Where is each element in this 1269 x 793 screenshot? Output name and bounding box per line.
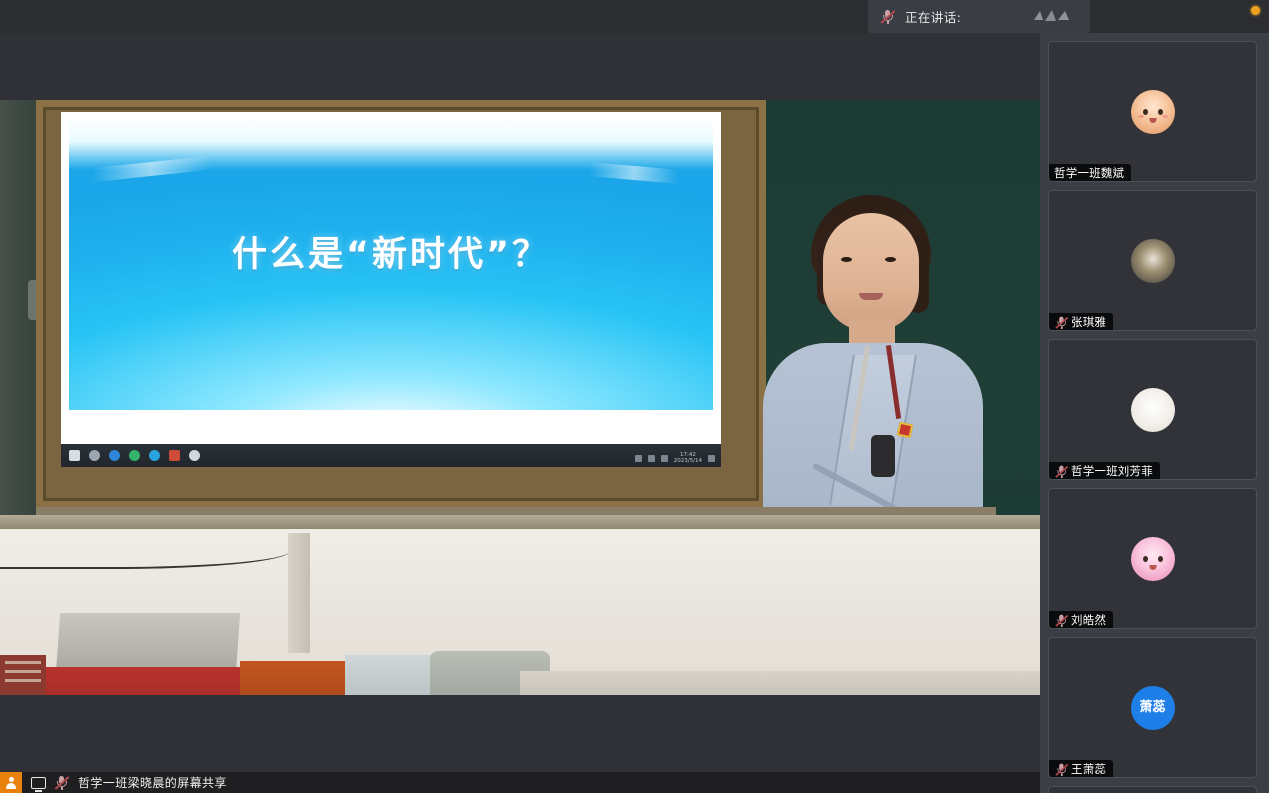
slide-title: 什么是“新时代”？: [69, 226, 713, 277]
recording-indicator-dot[interactable]: [1251, 6, 1260, 15]
presentation-slide: 什么是“新时代”？: [69, 118, 713, 410]
wall-pillar: [288, 533, 310, 653]
audio-wave-icon: [1032, 8, 1076, 26]
participant-name: 王萧蕊: [1071, 761, 1106, 777]
mic-muted-icon: [54, 775, 69, 790]
participant-name: 刘皓然: [1071, 612, 1106, 628]
interactive-whiteboard-frame: 什么是“新时代”？: [36, 100, 766, 508]
tray-volume-icon[interactable]: [661, 455, 668, 462]
participant-tile[interactable]: 哲学一班刘芳菲: [1048, 339, 1257, 480]
teacher-head: [823, 213, 919, 331]
mic-muted-icon: [1055, 465, 1066, 476]
meeting-app-window: 正在讲话: 什么是“新时代”？: [0, 0, 1269, 793]
avatar-face-icon: [1131, 537, 1175, 581]
participant-namebar: 哲学一班魏斌: [1049, 164, 1131, 181]
teacher-eye-left: [841, 257, 852, 262]
mic-muted-icon: [1055, 316, 1066, 327]
shared-screen-stage[interactable]: 什么是“新时代”？: [0, 33, 1040, 793]
participant-name: 张琪雅: [1071, 314, 1106, 330]
letterbox-top: [0, 33, 1040, 100]
podium-panel: [56, 613, 240, 675]
edge-icon[interactable]: [149, 450, 160, 461]
tray-network-icon[interactable]: [648, 455, 655, 462]
active-speaker-label: 正在讲话:: [905, 7, 961, 26]
projected-screen: 什么是“新时代”？: [61, 112, 721, 467]
mic-muted-icon: [1055, 763, 1066, 774]
teacher-eye-right: [885, 257, 896, 262]
settings-gear-icon[interactable]: [189, 450, 200, 461]
participant-namebar: 王萧蕊: [1049, 760, 1113, 777]
active-speaker-indicator: 正在讲话:: [868, 0, 1090, 33]
teacher-mouth: [859, 293, 883, 300]
explorer-icon[interactable]: [109, 450, 120, 461]
avatar: [1131, 388, 1175, 432]
participant-namebar: 张琪雅: [1049, 313, 1113, 330]
windows-taskbar[interactable]: 17:422023/5/14: [61, 444, 721, 467]
wall-notice-board: [0, 655, 46, 695]
classroom-video-feed: 什么是“新时代”？: [0, 100, 1040, 695]
back-counter: [520, 671, 1040, 695]
participant-list: 哲学一班魏斌 张琪雅 哲学一班刘芳菲: [1048, 41, 1261, 793]
screenshare-status-bar: 哲学一班梁晓晨的屏幕共享: [0, 772, 1040, 793]
screenshare-owner-label: 哲学一班梁晓晨的屏幕共享: [78, 774, 227, 791]
notification-icon[interactable]: [708, 455, 715, 462]
screen-share-icon: [31, 777, 46, 789]
tray-arrow-icon[interactable]: [635, 455, 642, 462]
wall-rail: [0, 515, 1040, 529]
avatar-face-icon: [1131, 90, 1175, 134]
powerpoint-icon[interactable]: [169, 450, 180, 461]
avatar: [1131, 239, 1175, 283]
system-tray[interactable]: 17:422023/5/14: [635, 452, 715, 464]
avatar: 萧蕊: [1131, 686, 1175, 730]
teacher-lapel-mic: [871, 435, 895, 477]
avatar-initials: 萧蕊: [1139, 701, 1165, 714]
participant-panel[interactable]: 哲学一班魏斌 张琪雅 哲学一班刘芳菲: [1040, 33, 1269, 793]
taskbar-clock: 17:422023/5/14: [674, 452, 702, 464]
mic-muted-icon: [880, 9, 895, 24]
start-button-icon[interactable]: [69, 450, 80, 461]
mic-muted-icon: [1055, 614, 1066, 625]
teacher-party-badge: [897, 422, 914, 439]
participant-tile[interactable]: 萧蕊 王萧蕊: [1048, 637, 1257, 778]
top-bar: 正在讲话:: [0, 0, 1269, 33]
participant-namebar: 刘皓然: [1049, 611, 1113, 628]
classroom-foreground: [0, 515, 1040, 695]
browser-icon[interactable]: [129, 450, 140, 461]
avatar: [1131, 537, 1175, 581]
participant-namebar: 哲学一班刘芳菲: [1049, 462, 1160, 479]
participant-tile[interactable]: 哲学一班魏斌: [1048, 41, 1257, 182]
screen-glare-right: [589, 162, 680, 184]
participant-name: 哲学一班魏斌: [1054, 165, 1124, 181]
participant-tile[interactable]: 张琪雅: [1048, 190, 1257, 331]
participant-count-button[interactable]: [0, 772, 22, 793]
search-icon[interactable]: [89, 450, 100, 461]
avatar: [1131, 90, 1175, 134]
participant-tile[interactable]: 刘皓然: [1048, 488, 1257, 629]
participant-name: 哲学一班刘芳菲: [1071, 463, 1153, 479]
participant-tile[interactable]: [1048, 786, 1257, 793]
screen-glare-left: [91, 156, 212, 182]
person-icon: [6, 777, 17, 789]
